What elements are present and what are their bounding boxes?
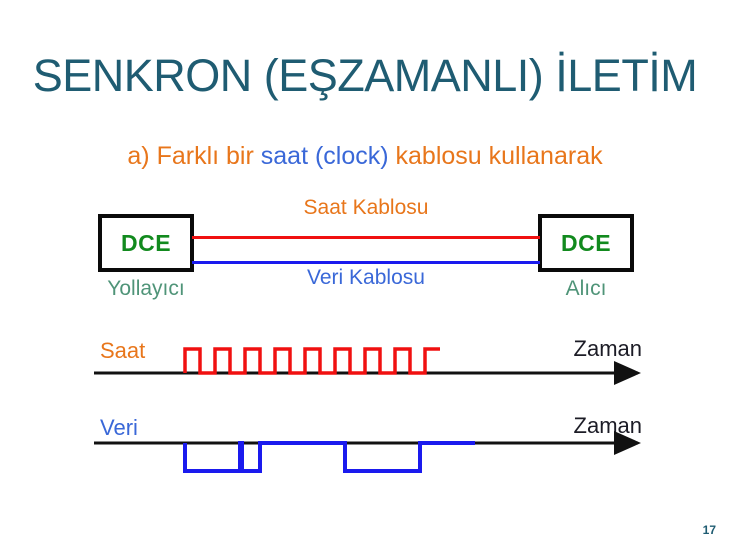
node-caption-receiver: Alıcı (538, 277, 634, 301)
data-waveform-panel: Veri Zaman (90, 405, 650, 480)
clock-signal-trace (185, 349, 440, 373)
presentation-slide: SENKRON (EŞZAMANLI) İLETİM a) Farklı bir… (0, 0, 730, 547)
clock-waveform-panel: Saat Zaman (90, 330, 650, 400)
node-caption-sender: Yollayıcı (98, 277, 194, 301)
subtitle-segment-2: saat (clock) (261, 142, 389, 170)
data-signal-trace (185, 443, 475, 471)
data-wire-line (192, 261, 540, 264)
subtitle: a) Farklı bir saat (clock) kablosu kulla… (0, 142, 730, 171)
subtitle-segment-1: a) Farklı bir (127, 142, 260, 170)
data-wire-label: Veri Kablosu (192, 266, 540, 290)
subtitle-segment-3: kablosu kullanarak (389, 142, 603, 170)
dce-label-sender: DCE (121, 230, 171, 257)
dce-box-receiver: DCE (538, 214, 634, 272)
dce-box-sender: DCE (98, 214, 194, 272)
page-number: 17 (703, 523, 716, 537)
clock-waveform-graphic (90, 330, 650, 400)
clock-wire-label: Saat Kablosu (192, 196, 540, 220)
page-title: SENKRON (EŞZAMANLI) İLETİM (0, 50, 730, 102)
clock-wire-line (192, 236, 540, 239)
dce-label-receiver: DCE (561, 230, 611, 257)
data-waveform-graphic (90, 405, 650, 480)
